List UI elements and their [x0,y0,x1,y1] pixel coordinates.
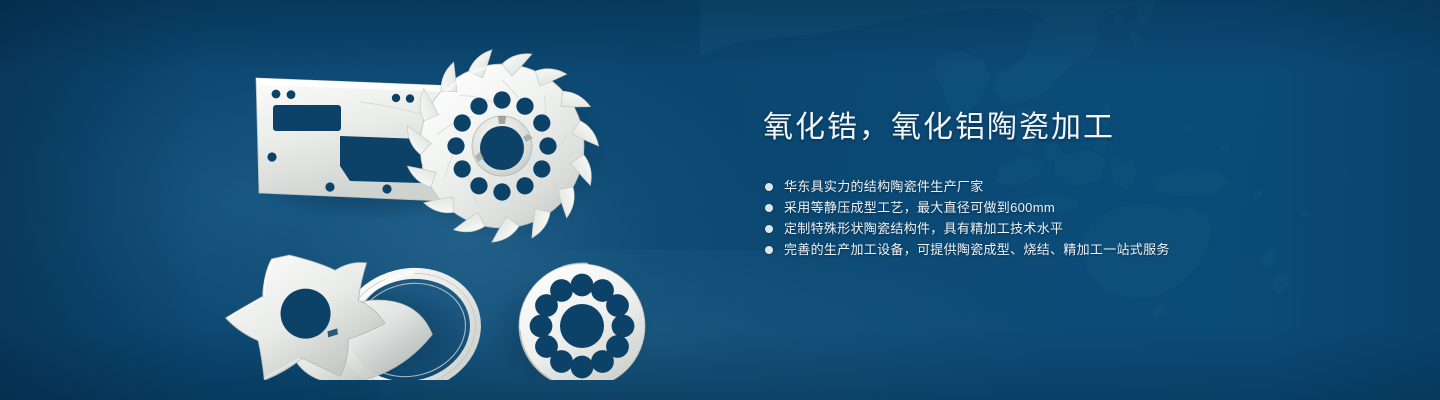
list-item: 华东具实力的结构陶瓷件生产厂家 [765,176,1383,197]
list-item: 完善的生产加工设备，可提供陶瓷成型、烧结、精加工一站式服务 [765,239,1383,260]
bullet-dot-icon [765,183,773,191]
feature-list: 华东具实力的结构陶瓷件生产厂家 采用等静压成型工艺，最大直径可做到600mm 定… [765,176,1383,260]
list-item-label: 完善的生产加工设备，可提供陶瓷成型、烧结、精加工一站式服务 [784,239,1170,260]
list-item-label: 华东具实力的结构陶瓷件生产厂家 [784,176,984,197]
list-item-label: 采用等静压成型工艺，最大直径可做到600mm [784,197,1055,218]
bullet-dot-icon [765,225,773,233]
bullet-dot-icon [765,204,773,212]
page-title: 氧化锆，氧化铝陶瓷加工 [763,108,1383,148]
bullet-dot-icon [765,246,773,254]
banner-copy: 氧化锆，氧化铝陶瓷加工 华东具实力的结构陶瓷件生产厂家 采用等静压成型工艺，最大… [763,108,1383,260]
list-item: 采用等静压成型工艺，最大直径可做到600mm [765,197,1383,218]
list-item: 定制特殊形状陶瓷结构件，具有精加工技术水平 [765,218,1383,239]
hero-banner: 氧化锆，氧化铝陶瓷加工 华东具实力的结构陶瓷件生产厂家 采用等静压成型工艺，最大… [0,0,1440,400]
list-item-label: 定制特殊形状陶瓷结构件，具有精加工技术水平 [784,218,1063,239]
